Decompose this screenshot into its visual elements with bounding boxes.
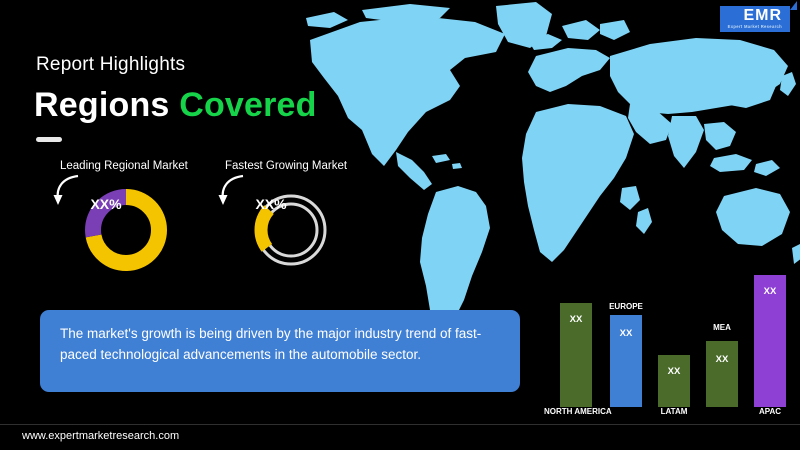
bar-label-apac: APAC bbox=[738, 407, 800, 417]
bar-label-mea: MEA bbox=[690, 323, 754, 332]
bar-label-europe: EUROPE bbox=[594, 302, 658, 311]
bar-value: XX bbox=[610, 328, 642, 339]
bar-label-latam: LATAM bbox=[642, 407, 706, 417]
logo-box: EMR Expert Market Research bbox=[720, 6, 790, 32]
regions-bar-chart: XX NORTH AMERICA XX EUROPE XX LATAM XX M… bbox=[548, 275, 800, 440]
bar-label-text: LATAM bbox=[661, 407, 688, 416]
bar-label-text: MEA bbox=[713, 323, 731, 332]
donut-2-value: XX% bbox=[225, 196, 317, 212]
page-title: Regions Covered bbox=[34, 86, 317, 125]
bar-rect bbox=[706, 341, 738, 407]
slide-canvas: EMR Expert Market Research Report Highli… bbox=[0, 0, 800, 450]
title-underline bbox=[36, 137, 62, 142]
donut-1-caption: Leading Regional Market bbox=[60, 160, 188, 172]
donut-1-value: XX% bbox=[60, 196, 152, 212]
logo-arrow-icon bbox=[790, 1, 797, 10]
eyebrow-text: Report Highlights bbox=[36, 54, 185, 76]
page-title-primary: Regions bbox=[34, 86, 170, 124]
footer-url: www.expertmarketresearch.com bbox=[22, 430, 179, 442]
insight-callout: The market's growth is being driven by t… bbox=[40, 310, 520, 392]
bar-label-text: NORTH AMERICA bbox=[544, 407, 612, 416]
donut-fastest-growing-market: Fastest Growing Market XX% bbox=[225, 160, 375, 290]
logo-tagline: Expert Market Research bbox=[728, 25, 782, 29]
logo-text: EMR bbox=[743, 7, 782, 24]
bar-label-text: EUROPE bbox=[609, 302, 643, 311]
footer-divider bbox=[0, 424, 800, 425]
bar-value: XX bbox=[560, 314, 592, 325]
bar-value: XX bbox=[754, 286, 786, 297]
bar-label-north-america: NORTH AMERICA bbox=[544, 407, 608, 417]
bar-value: XX bbox=[706, 354, 738, 365]
bar-label-text: APAC bbox=[759, 407, 781, 416]
donut-2-caption: Fastest Growing Market bbox=[225, 160, 347, 172]
bar-rect bbox=[658, 355, 690, 407]
donut-leading-regional-market: Leading Regional Market XX% bbox=[60, 160, 210, 290]
emr-logo: EMR Expert Market Research bbox=[720, 6, 790, 33]
page-title-accent: Covered bbox=[179, 86, 316, 124]
bar-value: XX bbox=[658, 366, 690, 377]
